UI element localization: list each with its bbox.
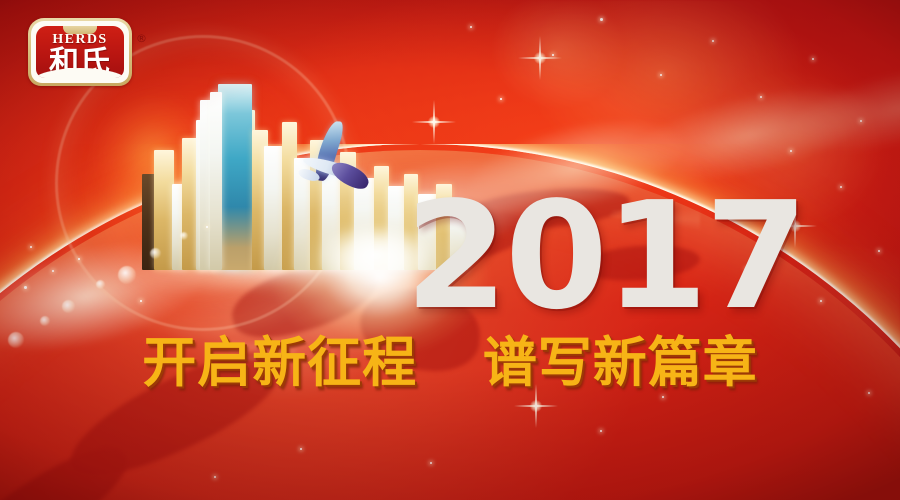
registered-trademark-icon: ® [136,32,147,45]
logo-red-field: HERDS 和氏 [36,26,124,78]
slogan: 开启新征程 谱写新篇章 [0,332,900,394]
brand-logo[interactable]: HERDS 和氏 ® [28,18,132,86]
year-headline: 2017 [405,182,795,330]
new-year-banner: HERDS 和氏 ® 2017 开启新征程 谱写新篇章 [0,0,900,500]
logo-white-frame: HERDS 和氏 [31,21,129,83]
slogan-phrase-1: 开启新征程 [142,331,417,394]
slogan-phrase-2: 谱写新篇章 [483,331,758,394]
logo-outer-frame: HERDS 和氏 [28,18,132,86]
